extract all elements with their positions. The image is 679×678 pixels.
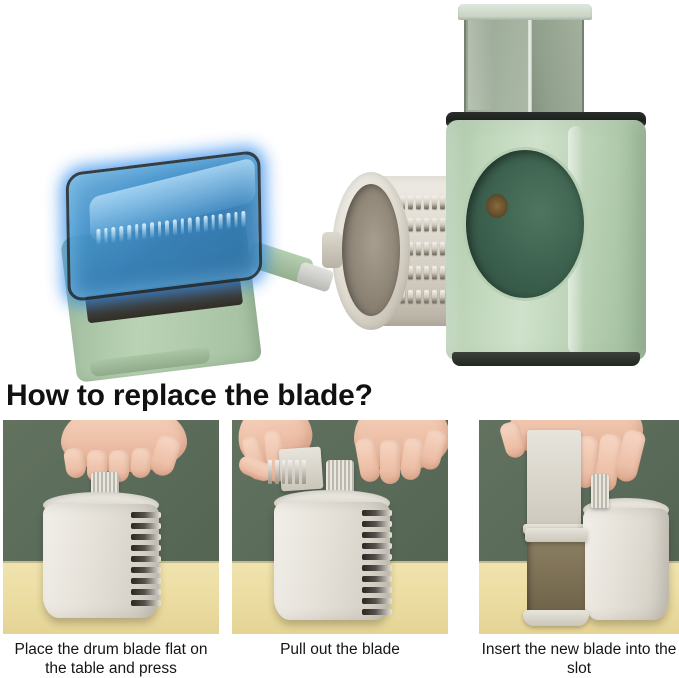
drum-slot-column xyxy=(131,512,161,616)
slot-lip xyxy=(525,528,587,542)
appliance-drive-shaft xyxy=(486,194,508,218)
product-infographic: How to replace the blade? xyxy=(0,0,679,678)
step-2: Pull out the blade xyxy=(232,420,448,659)
step-3-photo xyxy=(479,420,679,634)
hopper-sheen xyxy=(468,20,494,110)
appliance-foot xyxy=(452,352,640,366)
drum-opening xyxy=(342,184,400,316)
step-2-caption: Pull out the blade xyxy=(232,640,448,659)
new-blade-cartridge xyxy=(527,430,581,538)
finger xyxy=(380,440,400,484)
drum-latch-tab xyxy=(322,232,342,268)
step-1: Place the drum blade flat on the table a… xyxy=(3,420,219,678)
drum-center-knob xyxy=(591,474,609,508)
drum-body xyxy=(583,508,669,620)
step-3-caption: Insert the new blade into the slot xyxy=(479,640,679,678)
step-1-caption: Place the drum blade flat on the table a… xyxy=(3,640,219,678)
appliance-drum-port xyxy=(466,150,584,298)
hopper-corner-edge xyxy=(528,14,532,114)
hopper-right-face xyxy=(530,14,584,114)
removed-blade-teeth xyxy=(268,460,306,484)
drum-slot-column xyxy=(362,510,392,618)
appliance-hopper xyxy=(462,4,586,116)
steps-row: Place the drum blade flat on the table a… xyxy=(0,420,679,678)
open-blade-slot xyxy=(527,534,585,620)
right-product-appliance xyxy=(446,2,646,374)
page-title: How to replace the blade? xyxy=(6,379,373,413)
hopper-lid xyxy=(458,4,592,20)
left-product-illuminated-container xyxy=(60,158,350,380)
step-1-photo xyxy=(3,420,219,634)
hero-product-photo xyxy=(0,0,679,382)
step-2-photo xyxy=(232,420,448,634)
drum-base-ring xyxy=(523,610,589,626)
step-3: Insert the new blade into the slot xyxy=(479,420,679,678)
